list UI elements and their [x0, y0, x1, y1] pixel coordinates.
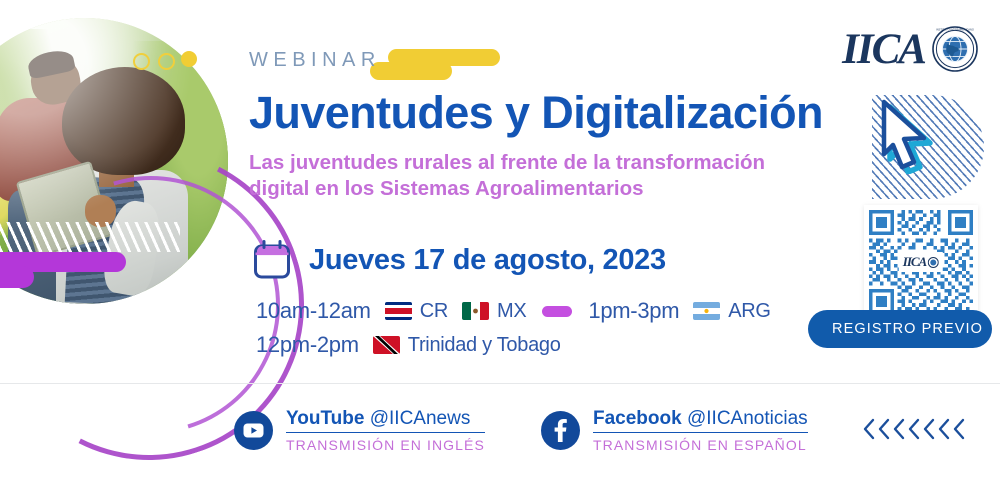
- schedule-row: 10am-12am CR MX 1pm-3pm: [256, 298, 771, 324]
- globe-seal-icon: INSTITUTO INTERAMERICANO: [932, 26, 978, 72]
- eyebrow-label: WEBINAR: [249, 50, 849, 70]
- trinidad-and-tobago-flag-icon: [373, 336, 400, 354]
- youtube-texts: YouTube @IICAnews TRANSMISIÓN EN INGLÉS: [286, 408, 485, 453]
- chevron-left-icon: [907, 418, 921, 440]
- timezone-tt: Trinidad y Tobago: [373, 334, 561, 357]
- youtube-caption: TRANSMISIÓN EN INGLÉS: [286, 437, 485, 453]
- calendar-icon: [253, 240, 291, 280]
- webinar-poster: IICA INSTITUTO INTERAMERICANO: [0, 0, 1000, 488]
- schedule-row: 12pm-2pm Trinidad y Tobago: [256, 332, 771, 358]
- timezone-arg: ARG: [693, 300, 770, 323]
- chevron-left-icon: [862, 418, 876, 440]
- facebook-glyph: [554, 419, 567, 442]
- iica-wordmark: IICA: [842, 28, 925, 71]
- timezone-cr: CR: [385, 300, 448, 323]
- facebook-username: @IICAnoticias: [687, 408, 808, 429]
- timezone-label: ARG: [728, 300, 770, 323]
- costa-rica-flag-icon: [385, 302, 412, 320]
- time-separator-pill: [542, 306, 572, 317]
- chevron-left-icon: [892, 418, 906, 440]
- mexico-flag-icon: [462, 302, 489, 320]
- schedule-time: 1pm-3pm: [588, 298, 679, 324]
- iica-logo: IICA INSTITUTO INTERAMERICANO: [842, 26, 978, 72]
- timezone-label: Trinidad y Tobago: [408, 334, 561, 357]
- timezone-label: CR: [420, 300, 448, 323]
- schedule-time: 10am-12am: [256, 298, 371, 324]
- footer: YouTube @IICAnews TRANSMISIÓN EN INGLÉS …: [0, 384, 1000, 488]
- registration-qr-code[interactable]: IICA: [864, 205, 978, 319]
- facebook-platform: Facebook: [593, 408, 682, 429]
- qr-globe-icon: [928, 257, 939, 268]
- youtube-channel[interactable]: YouTube @IICAnews TRANSMISIÓN EN INGLÉS: [234, 408, 485, 453]
- youtube-glyph: [243, 423, 264, 438]
- chevron-left-icon: [922, 418, 936, 440]
- diagonal-stripe-pattern: [872, 95, 984, 199]
- headline-block: WEBINAR Juventudes y Digitalización Las …: [249, 50, 849, 203]
- facebook-handle: Facebook @IICAnoticias: [593, 408, 808, 433]
- argentina-flag-icon: [693, 302, 720, 320]
- timezone-mx: MX: [462, 300, 526, 323]
- youtube-icon: [234, 411, 273, 450]
- youtube-username: @IICAnews: [370, 408, 471, 429]
- hero-photo: [0, 18, 228, 304]
- cursor-arrow-icon: [872, 98, 934, 174]
- facebook-icon: [541, 411, 580, 450]
- subtitle: Las juventudes rurales al frente de la t…: [249, 150, 849, 203]
- timezone-label: MX: [497, 300, 526, 323]
- facebook-caption: TRANSMISIÓN EN ESPAÑOL: [593, 437, 808, 453]
- subtitle-line-1: Las juventudes rurales al frente de la t…: [249, 150, 849, 177]
- chevron-left-icon: [877, 418, 891, 440]
- subtitle-line-2: digital en los Sistemas Agroalimentarios: [249, 176, 849, 203]
- qr-center-logo: IICA: [899, 252, 943, 272]
- chevron-decoration: [862, 418, 966, 440]
- event-date: Jueves 17 de agosto, 2023: [309, 244, 666, 277]
- page-title: Juventudes y Digitalización: [249, 90, 849, 137]
- facebook-texts: Facebook @IICAnoticias TRANSMISIÓN EN ES…: [593, 408, 808, 453]
- youtube-platform: YouTube: [286, 408, 364, 429]
- chevron-left-icon: [952, 418, 966, 440]
- facebook-channel[interactable]: Facebook @IICAnoticias TRANSMISIÓN EN ES…: [541, 408, 808, 453]
- qr-logo-text: IICA: [903, 254, 926, 270]
- event-date-row: Jueves 17 de agosto, 2023: [253, 240, 666, 280]
- photo-highlight: [0, 18, 228, 304]
- registro-previo-button[interactable]: REGISTRO PREVIO: [808, 310, 992, 348]
- chevron-left-icon: [937, 418, 951, 440]
- svg-text:INSTITUTO INTERAMERICANO: INSTITUTO INTERAMERICANO: [936, 28, 974, 32]
- schedule-block: 10am-12am CR MX 1pm-3pm: [256, 298, 771, 366]
- schedule-time: 12pm-2pm: [256, 332, 359, 358]
- youtube-handle: YouTube @IICAnews: [286, 408, 485, 433]
